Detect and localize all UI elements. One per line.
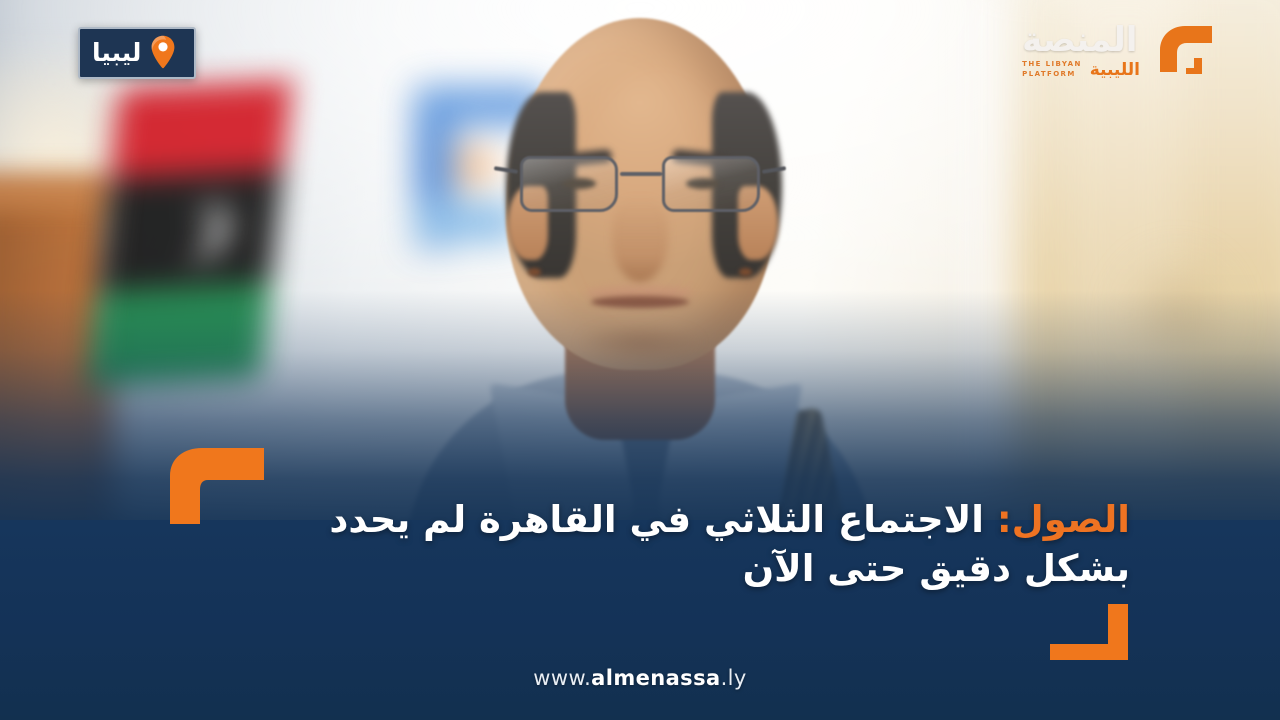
brand-subline: الليبية THE LIBYAN PLATFORM	[1022, 59, 1140, 79]
location-label: ليبيا	[92, 40, 141, 65]
lens-right	[662, 156, 760, 212]
url-prefix: www.	[533, 666, 591, 690]
orange-corner-bracket-bottom-right-icon	[1048, 604, 1130, 662]
url-tld: .ly	[721, 666, 747, 690]
podium-top	[0, 176, 120, 210]
brand-wordmark: المنصة الليبية THE LIBYAN PLATFORM	[1022, 23, 1140, 83]
brand-latin-line2: PLATFORM	[1022, 69, 1076, 79]
brand-arabic-qualifier: الليبية	[1090, 62, 1140, 79]
brand-arabic-name: المنصة	[1022, 23, 1137, 57]
headline: الصول: الاجتماع الثلاثي في القاهرة لم يح…	[230, 496, 1130, 594]
nostril-right	[739, 268, 752, 276]
flag-stripe-red	[110, 80, 293, 179]
glasses-bridge	[620, 172, 662, 176]
brand-latin-name: THE LIBYAN PLATFORM	[1022, 59, 1082, 79]
brand-latin-line1: THE LIBYAN	[1022, 59, 1082, 69]
nose	[612, 196, 668, 282]
lens-left	[520, 156, 618, 212]
url-name: almenassa	[591, 666, 720, 690]
location-badge: ليبيا	[78, 27, 196, 79]
brand-logo[interactable]: المنصة الليبية THE LIBYAN PLATFORM	[1022, 16, 1224, 90]
headline-speaker: الصول:	[997, 498, 1130, 541]
map-pin-icon	[150, 35, 176, 69]
news-card: ليبيا المنصة الليبية THE LIBYAN PLATFORM…	[0, 0, 1280, 720]
site-url[interactable]: www.almenassa.ly	[0, 666, 1280, 690]
orange-hook-logo-icon	[1150, 16, 1224, 90]
nostril-left	[528, 268, 541, 276]
